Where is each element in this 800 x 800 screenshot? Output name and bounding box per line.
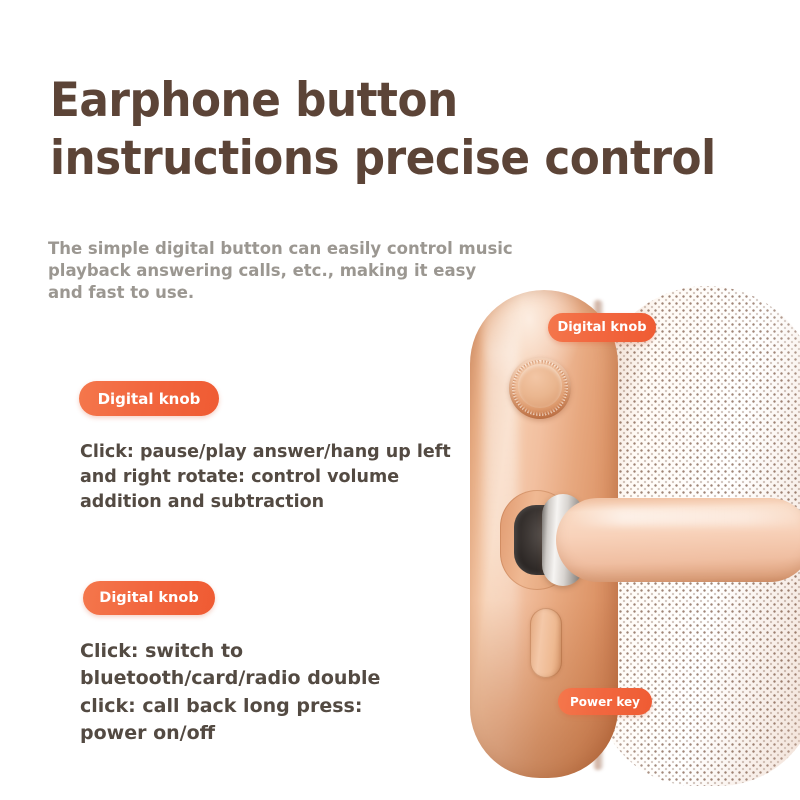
- headband-arm-highlight: [572, 508, 800, 526]
- feature-2-line-1: Click: switch to: [80, 638, 380, 665]
- page-subtitle-line-3: and fast to use.: [48, 282, 528, 304]
- pivot-socket: [500, 490, 574, 590]
- headband-arm: [556, 498, 800, 582]
- feature-2-badge: Digital knob: [83, 581, 215, 615]
- feature-1-description: Click: pause/play answer/hang up left an…: [80, 440, 451, 515]
- feature-2-description: Click: switch to bluetooth/card/radio do…: [80, 638, 380, 747]
- page-title-line-1: Earphone button: [50, 72, 710, 130]
- power-button: [530, 608, 562, 678]
- page-title-line-2: instructions precise control: [50, 130, 710, 188]
- callout-badge-digital-knob: Digital knob: [548, 313, 656, 342]
- feature-2-line-4: power on/off: [80, 720, 380, 747]
- feature-2-line-2: bluetooth/card/radio double: [80, 665, 380, 692]
- feature-2-line-3: click: call back long press:: [80, 693, 380, 720]
- feature-1-line-2: and right rotate: control volume: [80, 465, 451, 490]
- feature-1-line-3: addition and subtraction: [80, 490, 451, 515]
- page-title: Earphone button instructions precise con…: [50, 72, 710, 189]
- page-subtitle-line-2: playback answering calls, etc., making i…: [48, 260, 528, 282]
- feature-1-line-1: Click: pause/play answer/hang up left: [80, 440, 451, 465]
- page-subtitle: The simple digital button can easily con…: [48, 238, 528, 304]
- crown-knob-ridges: [512, 360, 568, 416]
- crown-knob: [509, 357, 571, 419]
- chrome-pivot-ring: [542, 494, 584, 586]
- earcup-highlight: [484, 300, 518, 730]
- feature-1-badge: Digital knob: [79, 381, 219, 416]
- crown-knob-face: [518, 364, 562, 408]
- callout-badge-power-key: Power key: [558, 688, 652, 715]
- pivot-cap: [514, 505, 558, 575]
- page-subtitle-line-1: The simple digital button can easily con…: [48, 238, 528, 260]
- product-feature-page: Earphone button instructions precise con…: [0, 0, 800, 800]
